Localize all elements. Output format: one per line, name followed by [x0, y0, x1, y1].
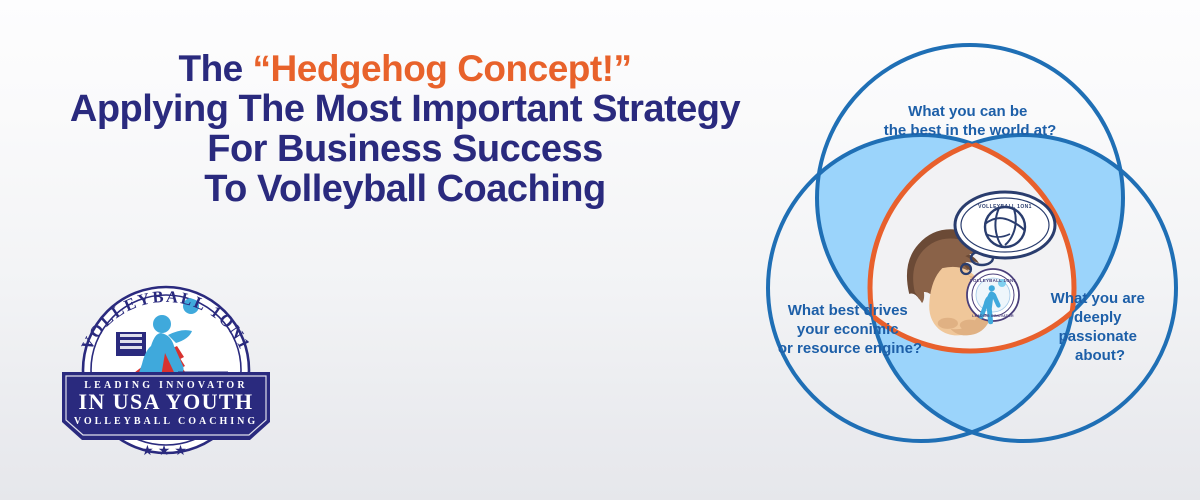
volleyball-thought-bubble-icon: VOLLEYBALL 1ON1	[955, 192, 1055, 258]
volleyball-1on1-logo[interactable]: VOLLEYBALL 1ON1 EST.2009 LEADING INNOVAT…	[60, 272, 272, 460]
hedgehog-venn-diagram: VOLLEYBALL 1ON1 VOLLEYBALL 1ON1 LEADING …	[750, 20, 1200, 480]
headline-line-1: The “Hedgehog Concept!”	[0, 50, 810, 88]
badge-caption-bottom: LEADING INNOVATOR	[972, 314, 1014, 318]
volleyball-1on1-badge-icon: VOLLEYBALL 1ON1 LEADING INNOVATOR	[967, 269, 1019, 324]
headline-line-1-navy: The	[178, 48, 252, 89]
logo-ribbon: LEADING INNOVATOR IN USA YOUTH VOLLEYBAL…	[62, 372, 270, 440]
badge-caption-top: VOLLEYBALL 1ON1	[970, 278, 1017, 283]
venn-label-left: What best drives your econimic or resour…	[778, 302, 922, 357]
headline-line-2: Applying The Most Important Strategy	[0, 90, 810, 130]
venn-label-right-line-3: passionate	[1059, 328, 1137, 345]
venn-label-left-line-2: your econimic	[797, 321, 899, 338]
venn-label-left-line-1: What best drives	[788, 302, 908, 319]
venn-label-right-line-4: about?	[1075, 347, 1125, 364]
venn-label-right-line-2: deeply	[1074, 309, 1122, 326]
headline-line-4: To Volleyball Coaching	[0, 170, 810, 210]
thought-bubble-caption: VOLLEYBALL 1ON1	[978, 204, 1032, 210]
logo-banner-line-2: IN USA YOUTH	[79, 389, 254, 414]
venn-label-right-line-1: What you are	[1051, 290, 1145, 307]
logo-stars: ★★★	[141, 443, 191, 459]
headline-line-3: For Business Success	[0, 130, 810, 170]
venn-label-top: What you can be the best in the world at…	[884, 103, 1057, 139]
venn-label-top-line-1: What you can be	[908, 103, 1027, 120]
hedgehog-concept-banner: The “Hedgehog Concept!” Applying The Mos…	[0, 0, 1200, 500]
venn-label-top-line-2: the best in the world at?	[884, 122, 1057, 139]
headline-line-1-orange: “Hedgehog Concept!”	[253, 48, 632, 89]
page-title: The “Hedgehog Concept!” Applying The Mos…	[0, 50, 810, 209]
logo-banner-line-3: VOLLEYBALL COACHING	[74, 416, 258, 427]
venn-label-left-line-3: or resource engine?	[778, 340, 922, 357]
